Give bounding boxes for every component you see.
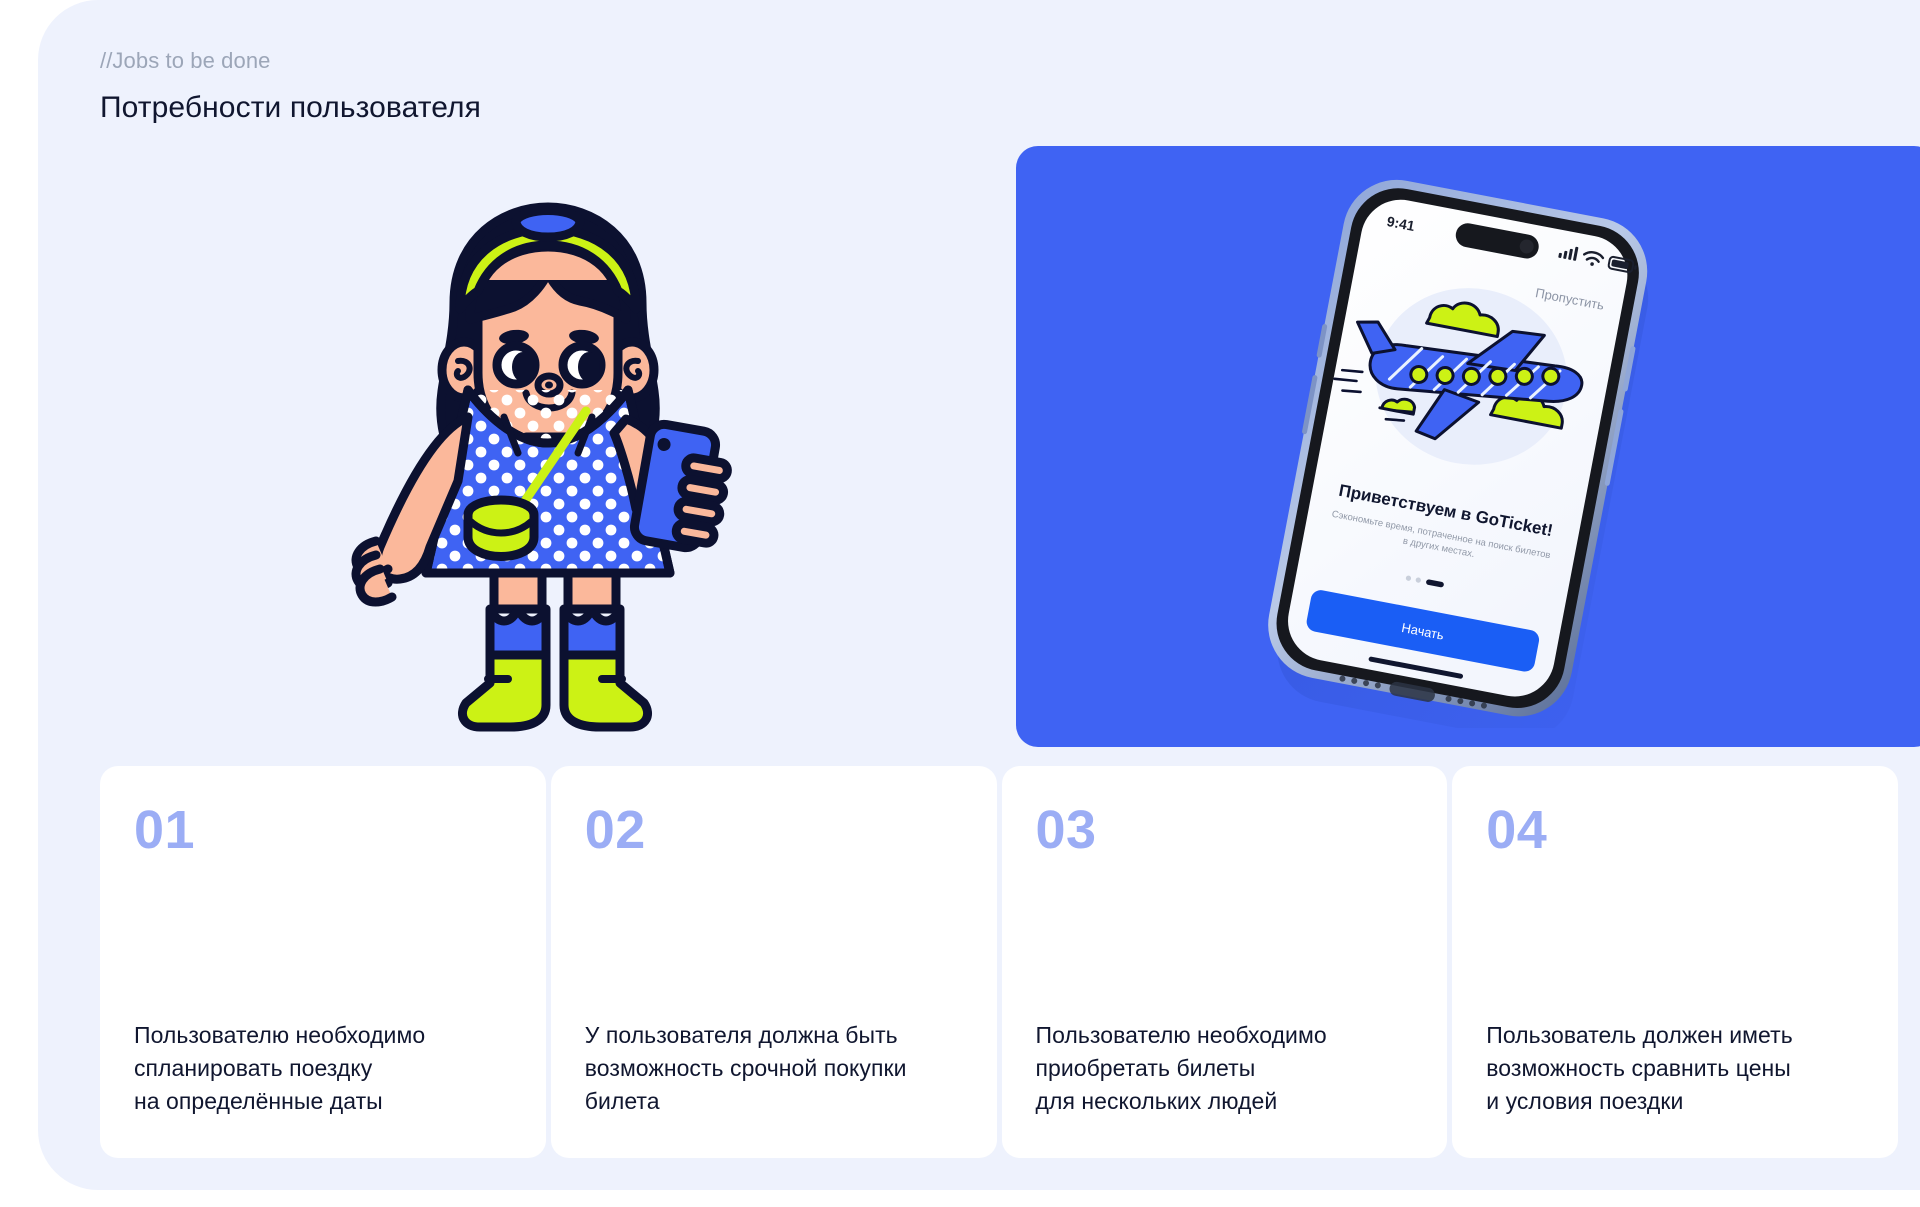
card-number: 02	[585, 802, 963, 858]
girl-with-phone-illustration	[318, 185, 778, 760]
card-text: Пользователь должен иметь возможность ср…	[1486, 1019, 1864, 1118]
card-number: 03	[1036, 802, 1414, 858]
jobs-card-list: 01 Пользователю необходимо спланировать …	[100, 766, 1898, 1158]
card-number: 01	[134, 802, 512, 858]
jobs-card-02[interactable]: 02 У пользователя должна быть возможност…	[551, 766, 997, 1158]
header: //Jobs to be done Потребности пользовате…	[100, 47, 481, 127]
page-title: Потребности пользователя	[100, 89, 481, 127]
card-text: У пользователя должна быть возможность с…	[585, 1019, 963, 1118]
jobs-card-04[interactable]: 04 Пользователь должен иметь возможность…	[1452, 766, 1898, 1158]
phone-showcase-panel: 9:41	[1016, 146, 1920, 747]
card-text: Пользователю необходимо спланировать пое…	[134, 1019, 512, 1118]
slide-root: //Jobs to be done Потребности пользовате…	[0, 0, 1920, 1207]
content-panel: //Jobs to be done Потребности пользовате…	[38, 0, 1920, 1190]
card-number: 04	[1486, 802, 1864, 858]
jobs-card-01[interactable]: 01 Пользователю необходимо спланировать …	[100, 766, 546, 1158]
phone-mockup: 9:41	[1238, 168, 1708, 728]
eyebrow-label: //Jobs to be done	[100, 47, 481, 75]
jobs-card-03[interactable]: 03 Пользователю необходимо приобретать б…	[1002, 766, 1448, 1158]
card-text: Пользователю необходимо приобретать биле…	[1036, 1019, 1414, 1118]
